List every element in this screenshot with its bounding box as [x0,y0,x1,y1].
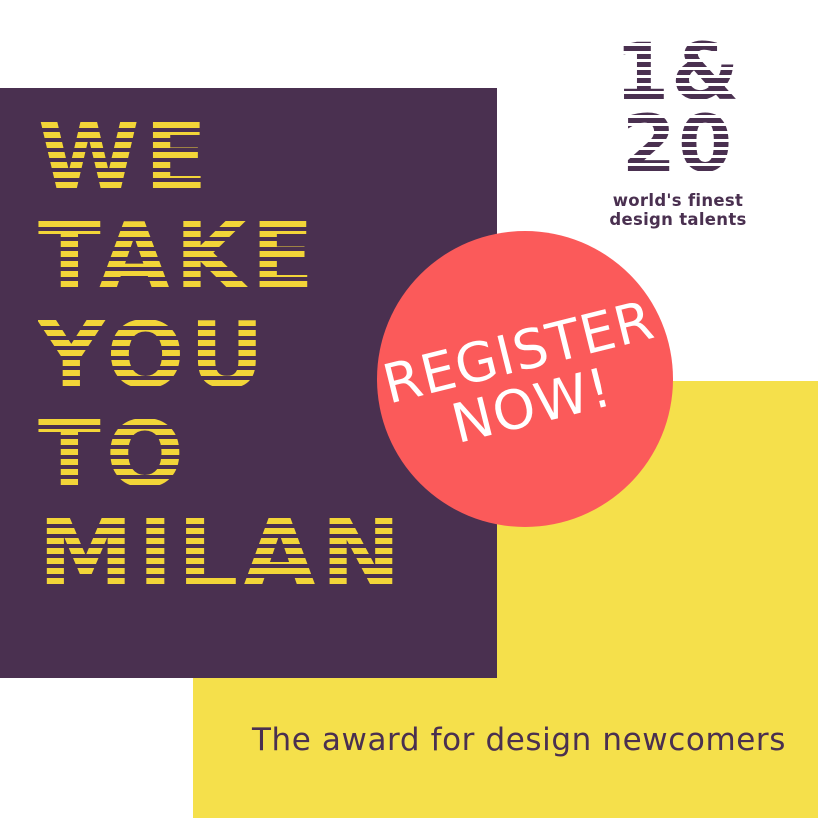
register-now-badge[interactable]: REGISTER NOW! [377,231,673,527]
logo-tagline-line-2: design talents [594,210,762,229]
register-now-badge-text: REGISTER NOW! [378,292,673,466]
logo-tagline-line-1: world's finest [594,191,762,210]
logo-tagline: world's finest design talents [594,191,762,230]
logo-mark-line-1: 1& [594,38,762,110]
headline-line-5: MILAN [38,508,478,603]
logo: 1& 20 world's finest design talents [594,38,762,229]
headline-line-1: WE [38,112,478,203]
strapline: The award for design newcomers [252,722,786,758]
logo-wordmark-icon: 1& 20 [594,38,762,182]
logo-mark-line-2: 20 [594,110,762,182]
poster-canvas: WE TAKE YOU TO MILAN REGISTER NOW! 1& 20… [0,0,818,818]
